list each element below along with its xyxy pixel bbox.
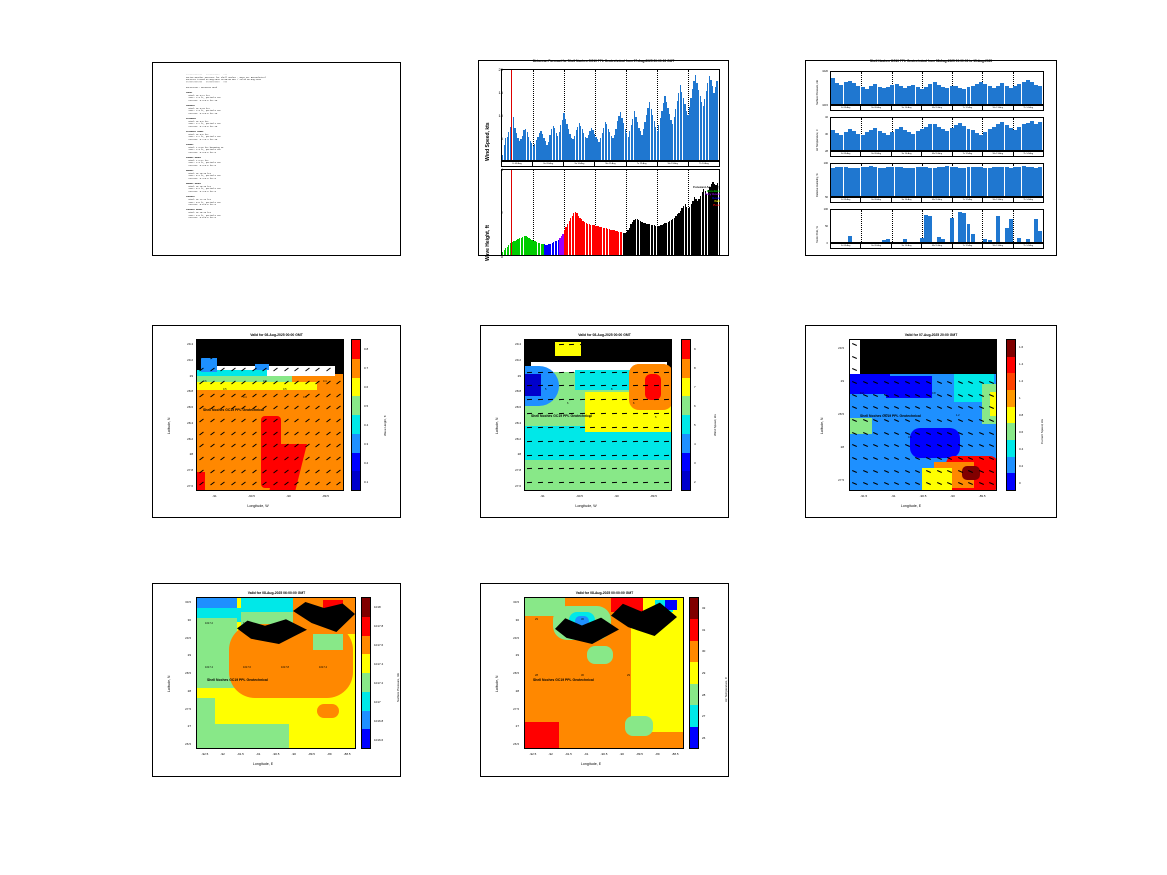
day-label: Fr 08-Aug	[501, 161, 532, 167]
lat-tick: 29.5	[826, 346, 844, 350]
wave-map-title: Valid for 08-Aug-2025 00:00 GMT	[153, 333, 400, 337]
bar-series	[502, 170, 719, 255]
wind-vector-arrow	[622, 441, 627, 442]
wind-vector-arrow	[548, 371, 553, 372]
lon-tick: -90	[943, 494, 963, 498]
met-y-tick: 100	[812, 162, 828, 165]
colorbar-tick: 0.3	[364, 442, 368, 446]
lat-tick: 29.2	[503, 358, 521, 362]
wind-vector-arrow	[559, 427, 564, 428]
colorbar-tick: 0.2	[364, 461, 368, 465]
contour-label: 29	[535, 618, 538, 621]
colorbar-swatch	[362, 729, 370, 748]
day-label: Fr 08-Aug	[830, 105, 860, 111]
met-axis-label-0: Surface Pressure, mb	[816, 80, 819, 105]
lat-tick: 26.5	[501, 742, 519, 746]
current-map-lon-label: Longitude, E	[826, 504, 996, 508]
contour-band-29-d	[625, 716, 653, 736]
colorbar-swatch	[362, 673, 370, 692]
bar	[1038, 86, 1042, 104]
lat-tick: 28	[175, 452, 193, 456]
lat-tick: 28	[503, 452, 521, 456]
contour-label: 0.5	[223, 388, 227, 391]
met-plot-1[interactable]	[830, 117, 1044, 151]
wind-vector-arrow	[643, 358, 648, 359]
wind-vector-arrow	[538, 427, 543, 428]
day-label: Fr 08-Aug	[830, 197, 860, 203]
report-line: Current: 0.5-0.9 kts W	[186, 217, 394, 220]
lon-tick: -90.5	[570, 494, 590, 498]
met-plot-2[interactable]	[830, 163, 1044, 197]
lon-tick: -91	[533, 494, 553, 498]
wind-vector-arrow	[527, 454, 532, 455]
temp-map-plot[interactable]: 293031283029	[524, 597, 684, 749]
day-label: Fr 08-Aug	[830, 151, 860, 157]
bar	[716, 81, 717, 160]
lat-tick: 28.5	[173, 671, 191, 675]
colorbar-swatch	[352, 396, 360, 415]
lat-tick: 28	[501, 689, 519, 693]
day-label: Mo 11-Aug	[921, 243, 951, 249]
pressure-map-title: Valid for 08-Aug-2025 06:00:00 GMT	[153, 591, 400, 595]
colorbar-tick: 0.6	[364, 385, 368, 389]
contour-label: 0.4	[243, 396, 247, 399]
bar	[886, 239, 890, 242]
lat-tick: 27.5	[173, 707, 191, 711]
day-label: Sa 09-Aug	[860, 151, 890, 157]
wave-map-colorbar[interactable]	[351, 339, 361, 491]
colorbar-tick: 31	[702, 628, 705, 632]
wind-vector-arrow	[337, 381, 342, 385]
wind-speed-map-panel[interactable]: Valid for 08-Aug-2025 00:00 GMT 564865 L…	[480, 325, 729, 518]
wind-vector-arrow	[590, 358, 595, 359]
contour-label: 1017.8	[281, 666, 289, 669]
contour-label: 30	[581, 618, 584, 621]
lon-tick: -90.5	[913, 494, 933, 498]
bar-series	[831, 164, 1043, 196]
lon-tick: -89.5	[644, 494, 664, 498]
wind-vector-arrow	[654, 358, 659, 359]
bar	[1038, 167, 1042, 196]
met-y-tick: 1020	[812, 70, 828, 73]
colorbar-swatch	[682, 378, 690, 397]
wind-map-lat-label: Latitude, N	[495, 418, 499, 434]
wind-vector-arrow	[580, 454, 585, 455]
wind-vector-arrow	[633, 371, 638, 372]
wind-speed-plot-area[interactable]	[501, 69, 720, 161]
colorbar-tick: 1017.4	[374, 662, 383, 666]
colorbar-tick: 26	[702, 736, 705, 740]
bar-series	[502, 70, 719, 160]
current-map-site-label: Shell Noches GC19 PPL Geotechnical	[860, 414, 921, 418]
lat-tick: 27	[501, 724, 519, 728]
lon-tick: -90	[607, 494, 627, 498]
colorbar-swatch	[362, 654, 370, 673]
contour-label: 8	[611, 388, 612, 391]
wave-height-plot-area[interactable]	[501, 169, 720, 256]
day-label: Th 14-Aug	[1013, 243, 1044, 249]
bar	[950, 218, 954, 242]
bar	[996, 216, 1000, 242]
lat-tick: 30	[173, 618, 191, 622]
wind-map-title: Valid for 08-Aug-2025 00:00 GMT	[481, 333, 728, 337]
lat-tick: 29.5	[173, 636, 191, 640]
colorbar-tick: 0.4	[364, 423, 368, 427]
temp-map-colorbar[interactable]	[689, 597, 699, 749]
temp-map-lon-label: Longitude, E	[501, 762, 681, 766]
current-map-colorbar[interactable]	[1006, 339, 1016, 491]
bar-series	[831, 72, 1043, 104]
contour-band-1017.2-c	[313, 634, 343, 650]
colorbar-swatch	[690, 684, 698, 705]
wind-vector-arrow	[580, 371, 585, 372]
colorbar-swatch	[682, 471, 690, 490]
colorbar-swatch	[362, 636, 370, 655]
wind-vector-arrow	[527, 427, 532, 428]
wind-map-site-label: Shell Noches GC19 PPL Geotechnical	[531, 414, 592, 418]
lat-tick: 29.4	[175, 342, 193, 346]
colorbar-tick: 32	[702, 606, 705, 610]
colorbar-swatch	[690, 641, 698, 662]
wind-vector-arrow	[622, 358, 627, 359]
wind-vector-arrow	[654, 454, 659, 455]
contour-label: 6	[567, 402, 568, 405]
lat-tick: 28.2	[503, 437, 521, 441]
lat-tick: 29	[175, 374, 193, 378]
wind-vector-arrow	[612, 454, 617, 455]
contour-label: 6	[633, 402, 634, 405]
colorbar-tick: 3	[694, 461, 696, 465]
lon-tick: -90	[279, 494, 299, 498]
forecast-accuracy-legend: Forecast AccuracyExcellentVery GoodGoodF…	[693, 186, 720, 208]
wind-vector-arrow	[601, 454, 606, 455]
wave-height-map-panel[interactable]: Valid for 08-Aug-2025 00:00 GMT 0.60.50.…	[152, 325, 401, 518]
wave-map-plot[interactable]: 0.60.50.40.80.50.60.4	[196, 339, 344, 491]
contour-label: 0.5	[283, 388, 287, 391]
lat-tick: 29	[173, 653, 191, 657]
colorbar-swatch	[690, 598, 698, 619]
colorbar-tick: 0.5	[364, 404, 368, 408]
contour-label: 5	[545, 388, 546, 391]
forecast-report-panel[interactable]: ************* *********** ***Marine Weat…	[152, 62, 401, 256]
temp-map-site-label: Shell Noches GC19 PPL Geotechnical	[533, 678, 594, 682]
contour-band-1017.6-c	[317, 704, 339, 718]
contour-label: 5	[655, 416, 656, 419]
colorbar-swatch	[682, 359, 690, 378]
pressure-map-plot[interactable]: 1017.21017.41017.61017.81017.41017.61017…	[196, 597, 356, 749]
wind-vector-arrow	[538, 358, 543, 359]
colorbar-tick: 8	[694, 366, 696, 370]
day-label: Tu 12-Aug	[952, 243, 982, 249]
met-y-tick: 30	[812, 133, 828, 136]
wave-map-site-label: Shell Noches GC19 PPL Geotechnical	[203, 408, 264, 412]
wind-vector-arrow	[601, 427, 606, 428]
colorbar-swatch	[1007, 407, 1015, 424]
wind-vector-arrow	[569, 454, 574, 455]
pressure-map-lat-label: Latitude, N	[167, 676, 171, 692]
bar	[903, 239, 907, 242]
day-label: Th 14-Aug	[1013, 105, 1044, 111]
colorbar-swatch	[1007, 373, 1015, 390]
contour-label: 0.6	[908, 436, 912, 439]
met-y-tick: 1015	[812, 104, 828, 107]
day-label: Th 14-Aug	[1013, 151, 1044, 157]
pressure-map-colorbar[interactable]	[361, 597, 371, 749]
day-label: We 13-Aug	[982, 197, 1012, 203]
colorbar-tick: 0.2	[1019, 464, 1023, 468]
colorbar-tick: 27	[702, 714, 705, 718]
lat-tick: 28.6	[503, 405, 521, 409]
met-axis-label-2: Relative Humidity, %	[816, 173, 819, 197]
met-plot-0[interactable]	[830, 71, 1044, 105]
wind-vector-arrow	[559, 441, 564, 442]
lat-tick: 28.5	[501, 671, 519, 675]
colorbar-tick: 5	[694, 423, 696, 427]
met-y-tick: 50	[812, 225, 828, 228]
colorbar-swatch	[690, 705, 698, 726]
wind-vector-arrow	[622, 371, 627, 372]
colorbar-tick: 1017.8	[374, 624, 383, 628]
current-time-marker	[511, 170, 512, 255]
lat-tick: 29.2	[175, 358, 193, 362]
colorbar-tick: 0.8	[1019, 413, 1023, 417]
colorbar-swatch	[1007, 357, 1015, 374]
contour-label: 30	[581, 674, 584, 677]
colorbar-tick: 1018	[374, 605, 381, 609]
colorbar-swatch	[690, 727, 698, 748]
wind-vector-arrow	[569, 441, 574, 442]
colorbar-tick: 1	[1019, 396, 1021, 400]
wind-vector-arrow	[664, 371, 669, 372]
current-map-colorbar-label: Current Speed, kts	[1040, 419, 1044, 444]
lat-tick: 29.5	[501, 636, 519, 640]
colorbar-tick: 0.4	[1019, 447, 1023, 451]
colorbar-tick: 1016.8	[374, 719, 383, 723]
wind-vector-arrow	[538, 454, 543, 455]
colorbar-swatch	[352, 471, 360, 490]
day-label: We 13-Aug	[657, 161, 688, 167]
contour-band-5-b	[525, 460, 672, 491]
lat-tick: 28.2	[175, 437, 193, 441]
wind-vector-arrow	[590, 371, 595, 372]
contour-label: 0.8	[263, 380, 267, 383]
wind-wave-forecast-panel[interactable]: Metocean Forecast for Shell Noches GC19 …	[478, 60, 729, 256]
wind-vector-arrow	[633, 358, 638, 359]
wind-vector-arrow	[590, 441, 595, 442]
legend-entry: Poor	[693, 204, 720, 208]
contour-band-4	[575, 370, 637, 390]
bar	[971, 234, 975, 242]
colorbar-swatch	[682, 396, 690, 415]
wind-vector-arrow	[601, 371, 606, 372]
met-y-tick: 0	[812, 242, 828, 245]
contour-label: 0.8	[932, 392, 936, 395]
wind-vector-arrow	[643, 454, 648, 455]
contour-band-1.6	[962, 466, 980, 480]
wind-vector-arrow	[654, 427, 659, 428]
colorbar-tick: 4	[694, 442, 696, 446]
colorbar-tick: 30	[702, 649, 705, 653]
wave-map-lon-label: Longitude, W	[173, 504, 343, 508]
lat-tick: 28.6	[175, 405, 193, 409]
wind-map-colorbar[interactable]	[681, 339, 691, 491]
met-y-tick: 50	[812, 196, 828, 199]
bar	[941, 239, 945, 242]
temp-map-title: Valid for 08-Aug-2025 00:00:00 GMT	[481, 591, 728, 595]
lat-tick: 27.6	[175, 484, 193, 488]
lat-tick: 29	[501, 653, 519, 657]
pressure-map-lon-label: Longitude, E	[173, 762, 353, 766]
wind-vector-arrow	[538, 371, 543, 372]
current-speed-map-panel[interactable]: Valid for 07-Aug-2025 20:00 GMT 0.20.40.…	[805, 325, 1057, 518]
colorbar-tick: 1017	[374, 700, 381, 704]
colorbar-tick: 29	[702, 671, 705, 675]
lat-tick: 30.5	[501, 600, 519, 604]
wind-vector-arrow	[569, 358, 574, 359]
colorbar-tick: 1017.6	[374, 643, 383, 647]
colorbar-tick: 1016.6	[374, 738, 383, 742]
lat-tick: 28	[173, 689, 191, 693]
sea-level-pressure-map-panel[interactable]: Valid for 08-Aug-2025 06:00:00 GMT 1017.…	[152, 583, 401, 777]
wind-vector-arrow	[622, 454, 627, 455]
lon-tick: -88.5	[337, 752, 357, 756]
bar	[928, 216, 932, 242]
wind-vector-arrow	[559, 454, 564, 455]
lat-tick: 28.8	[175, 389, 193, 393]
lat-tick: 28.4	[175, 421, 193, 425]
lat-tick: 27.5	[501, 707, 519, 711]
colorbar-tick: 9	[694, 347, 696, 351]
pressure-map-site-label: Shell Noches GC19 PPL Geotechnical	[207, 678, 268, 682]
colorbar-swatch	[352, 378, 360, 397]
contour-label: 1017.8	[319, 622, 327, 625]
contour-label: 1017.2	[205, 622, 213, 625]
wave-map-lat-label: Latitude, N	[167, 418, 171, 434]
colorbar-swatch	[1007, 457, 1015, 474]
colorbar-swatch	[362, 617, 370, 636]
colorbar-swatch	[362, 598, 370, 617]
bar	[1009, 219, 1013, 242]
colorbar-swatch	[1007, 423, 1015, 440]
lat-tick: 28.4	[503, 421, 521, 425]
temp-map-colorbar-label: Air Temperature, C	[724, 677, 728, 702]
wind-vector-arrow	[643, 371, 648, 372]
air-temperature-map-panel[interactable]: Valid for 08-Aug-2025 00:00:00 GMT 29303…	[480, 583, 729, 777]
wind-vector-arrow	[527, 441, 532, 442]
y-tick-label: 20	[487, 67, 503, 72]
colorbar-tick: 1.6	[1019, 345, 1023, 349]
colorbar-swatch	[682, 340, 690, 359]
bar	[1038, 122, 1042, 150]
colorbar-swatch	[352, 453, 360, 472]
contour-label: 1017.6	[243, 666, 251, 669]
contour-band-9-b	[645, 374, 661, 400]
day-label: We 13-Aug	[982, 243, 1012, 249]
day-label: Mo 11-Aug	[921, 105, 951, 111]
bar	[1038, 231, 1042, 242]
colorbar-swatch	[1007, 340, 1015, 357]
day-label: Su 10-Aug	[891, 197, 921, 203]
lat-tick: 26.5	[173, 742, 191, 746]
temp-map-lat-label: Latitude, N	[495, 676, 499, 692]
contour-band-29-c	[587, 646, 613, 664]
colorbar-swatch	[362, 711, 370, 730]
colorbar-swatch	[352, 415, 360, 434]
wind-vector-arrow	[633, 454, 638, 455]
wind-map-colorbar-label: Wind Speed, kts	[713, 414, 717, 436]
wind-vector-arrow	[654, 371, 659, 372]
bar-series	[831, 118, 1043, 150]
colorbar-swatch	[1007, 473, 1015, 490]
colorbar-swatch	[1007, 440, 1015, 457]
lat-tick: 30.5	[173, 600, 191, 604]
wind-vector-arrow	[654, 441, 659, 442]
wind-vector-arrow	[664, 358, 669, 359]
colorbar-tick: 1.2	[1019, 379, 1023, 383]
current-time-marker	[511, 70, 512, 160]
met-y-tick: 28	[812, 150, 828, 153]
wind-vector-arrow	[664, 441, 669, 442]
lat-tick: 28.5	[826, 412, 844, 416]
contour-band-1017.2-d	[197, 724, 289, 749]
lat-tick: 27.8	[175, 468, 193, 472]
day-label: Su 10-Aug	[563, 161, 594, 167]
lat-tick: 27.5	[826, 478, 844, 482]
colorbar-tick: 0.7	[364, 366, 368, 370]
day-label: Su 10-Aug	[891, 243, 921, 249]
day-label: Su 10-Aug	[891, 151, 921, 157]
colorbar-swatch	[682, 434, 690, 453]
lat-tick: 29	[503, 374, 521, 378]
wind-wave-chart-title: Metocean Forecast for Shell Noches GC19 …	[479, 59, 728, 63]
bar	[848, 236, 852, 242]
colorbar-swatch	[690, 619, 698, 640]
met-parameters-panel[interactable]: Shell Noches GC19 PPL Geotechnical from …	[805, 60, 1057, 256]
colorbar-tick: 0	[1019, 481, 1021, 485]
wind-vector-arrow	[548, 441, 553, 442]
colorbar-tick: 6	[694, 404, 696, 408]
y-tick-label: 15	[487, 90, 503, 95]
lon-tick: -91	[883, 494, 903, 498]
colorbar-swatch	[362, 692, 370, 711]
contour-label: 31	[627, 618, 630, 621]
lon-tick: -88.5	[665, 752, 685, 756]
wind-vector-arrow	[580, 427, 585, 428]
met-plot-3[interactable]	[830, 209, 1044, 243]
wind-vector-arrow	[590, 454, 595, 455]
wave-map-colorbar-label: Wave Height, ft	[383, 416, 387, 436]
current-map-title: Valid for 07-Aug-2025 20:00 GMT	[806, 333, 1056, 337]
wind-vector-arrow	[559, 358, 564, 359]
lat-tick: 27.6	[503, 484, 521, 488]
contour-label: 1017.4	[243, 622, 251, 625]
met-y-tick: 32	[812, 116, 828, 119]
day-label: Fr 08-Aug	[830, 243, 860, 249]
colorbar-tick: 7	[694, 385, 696, 389]
contour-label: 29	[627, 674, 630, 677]
wind-vector-arrow	[538, 441, 543, 442]
forecast-report-text: ************* *********** ***Marine Weat…	[186, 74, 394, 251]
contour-label: 0.2	[860, 392, 864, 395]
colorbar-tick: 28	[702, 693, 705, 697]
day-label: Tu 12-Aug	[952, 197, 982, 203]
colorbar-swatch	[690, 662, 698, 683]
colorbar-swatch	[1007, 390, 1015, 407]
met-y-tick: 100	[812, 208, 828, 211]
day-label: Th 14-Aug	[1013, 197, 1044, 203]
contour-label: 0.6	[203, 380, 207, 383]
colorbar-tick: 2	[694, 480, 696, 484]
